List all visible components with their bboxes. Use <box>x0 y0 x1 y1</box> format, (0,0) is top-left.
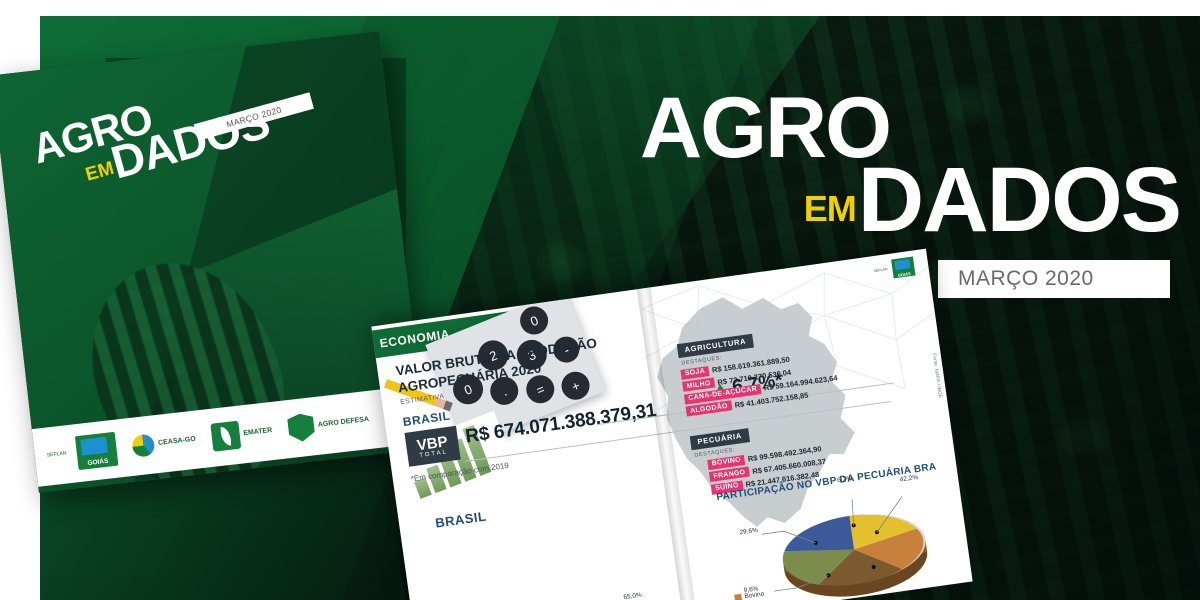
inner-seplan-label: SEPLAN <box>873 267 889 273</box>
goias-badge-icon: GOIÁS <box>75 432 119 470</box>
emater-leaf-icon <box>210 421 241 452</box>
emater-logo: EMATER <box>210 417 274 452</box>
seplan-logo-label: SEPLAN <box>47 451 73 459</box>
ceasa-logo-label: CEASA-GO <box>158 436 196 448</box>
crop-chip-soja: SOJA <box>680 366 709 380</box>
vbp-scope-label-2: BRASIL <box>434 509 487 531</box>
bottom-callout-percent: 65,0% <box>623 592 642 600</box>
agrodefesa-logo: AGRO DEFESA <box>287 406 371 443</box>
legend-label-bovino: Bovino <box>744 591 765 600</box>
ceasa-go-logo: CEASA-GO <box>131 429 197 458</box>
issue-date-bar: MARÇO 2020 <box>938 260 1170 298</box>
hero-dados-word: DADOS <box>858 160 1180 241</box>
inner-goias-flag-icon <box>894 259 910 270</box>
hero-title: AGRO EM DADOS <box>640 92 1180 241</box>
vbp-total-badge: VBP TOTAL <box>404 426 460 467</box>
seplan-goias-logo: SEPLAN GOIÁS <box>45 432 118 474</box>
emater-logo-label: EMATER <box>243 427 273 438</box>
issue-date-label: MARÇO 2020 <box>958 267 1094 291</box>
vbp-scope-label: BRASIL <box>402 409 451 429</box>
agrodefesa-shield-icon <box>287 412 316 443</box>
goias-badge-label: GOIÁS <box>87 458 109 467</box>
calculator-key-zero: 0 <box>516 302 552 338</box>
poster-canvas: AGRO EM DADOS MARÇO 2020 AGRO EM DADOS M… <box>0 0 1200 600</box>
booklet-cover: AGRO EM DADOS MARÇO 2020 SEPLAN GOIÁS CE… <box>0 31 427 492</box>
legend-swatch-bovino <box>734 594 742 600</box>
hero-em-word: EM <box>804 191 856 241</box>
ceasa-mark-icon <box>131 433 155 457</box>
inner-goias-badge-icon: GOIÁS <box>891 257 915 279</box>
goias-flag-icon <box>80 437 108 456</box>
agrodefesa-logo-label: AGRO DEFESA <box>318 416 370 429</box>
pie-chart-legend: Bovino <box>734 591 765 600</box>
